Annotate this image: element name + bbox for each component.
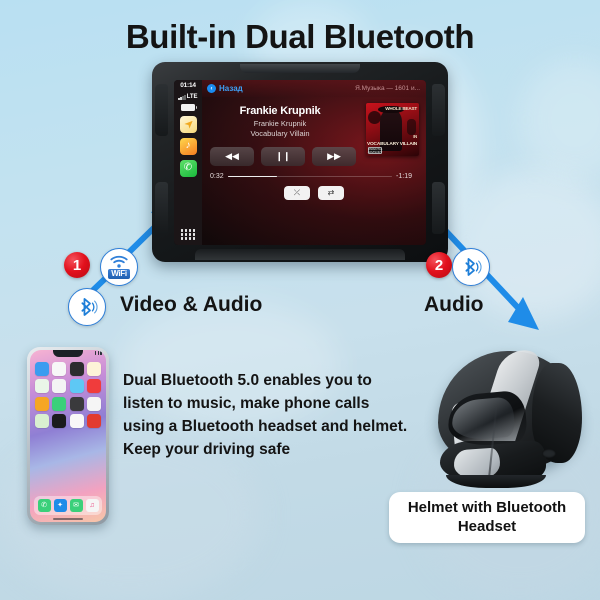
- wifi-waves-glyph: [109, 255, 129, 268]
- bluetooth-glyph: [76, 295, 98, 319]
- smartphone-app-grid: [35, 362, 101, 428]
- maps-app-icon[interactable]: [180, 116, 197, 133]
- wifi-icon: WiFi: [100, 248, 138, 286]
- secondary-controls: ⤫ ⇄: [284, 186, 344, 200]
- carplay-screen: 01:14 LTE ♪ ✆ ‹ Назад: [174, 80, 426, 245]
- parental-advisory-label: PARENTAL ADVISORY: [368, 147, 382, 154]
- back-button[interactable]: ‹ Назад: [207, 84, 243, 93]
- battery-full-icon: [181, 104, 195, 111]
- phone-app-icon[interactable]: [35, 414, 49, 428]
- rewind-button[interactable]: ◀◀: [210, 147, 254, 166]
- case-bottom-bar: [195, 249, 405, 260]
- music-dock-icon[interactable]: ♫: [86, 499, 99, 512]
- wifi-label: WiFi: [108, 269, 130, 280]
- smartphone-dock: ✆✦✉♫: [34, 496, 102, 515]
- phone-app-icon[interactable]: [87, 362, 101, 376]
- carplay-topbar: ‹ Назад Я.Музыка — 1601 и...: [202, 80, 426, 97]
- callout-1-label: Video & Audio: [120, 293, 262, 317]
- phone-app-icon[interactable]: [35, 362, 49, 376]
- bluetooth-icon: [68, 288, 106, 326]
- smartphone-screen: ✆✦✉♫: [30, 350, 106, 522]
- bluetooth-glyph: [460, 255, 482, 279]
- back-label: Назад: [219, 84, 243, 93]
- track-album: Vocabulary Villain: [202, 129, 358, 138]
- elapsed-time: 0:32: [210, 173, 224, 180]
- now-playing-body: WHOLE BEAST IN VOCABULARY VILLAIN PARENT…: [202, 97, 426, 245]
- phone-app-icon[interactable]: [70, 379, 84, 393]
- callout-2-label: Audio: [424, 293, 483, 317]
- phone-app-icon[interactable]: [87, 397, 101, 411]
- bluetooth-icon: [452, 248, 490, 286]
- shuffle-button[interactable]: ⤫: [284, 186, 310, 200]
- fast-forward-button[interactable]: ▶▶: [312, 147, 356, 166]
- music-app-icon[interactable]: ♪: [180, 138, 197, 155]
- messages-dock-icon[interactable]: ✉: [70, 499, 83, 512]
- page-title: Built-in Dual Bluetooth: [0, 18, 600, 56]
- track-metadata: Frankie Krupnik Frankie Krupnik Vocabula…: [202, 105, 358, 138]
- smartphone-notch: [53, 350, 83, 357]
- safari-dock-icon[interactable]: ✦: [54, 499, 67, 512]
- tablet-device: 01:14 LTE ♪ ✆ ‹ Назад: [152, 62, 448, 262]
- phone-dock-icon[interactable]: ✆: [38, 499, 51, 512]
- phone-app-icon[interactable]: [35, 397, 49, 411]
- status-network: LTE: [178, 93, 197, 100]
- remaining-time: -1:19: [396, 173, 412, 180]
- track-artist: Frankie Krupnik: [202, 119, 358, 128]
- album-art: WHOLE BEAST IN VOCABULARY VILLAIN PARENT…: [366, 103, 419, 156]
- source-label: Я.Музыка — 1601 и...: [355, 85, 420, 92]
- phone-app-icon[interactable]: [70, 414, 84, 428]
- case-mount-tab: [155, 84, 168, 136]
- album-art-text-mid: IN: [413, 134, 417, 139]
- phone-app-icon[interactable]: [70, 397, 84, 411]
- phone-app-icon[interactable]: [87, 379, 101, 393]
- album-art-shape: [407, 119, 416, 135]
- phone-app-icon[interactable]: [70, 362, 84, 376]
- helmet-image: [432, 345, 584, 493]
- signal-bars-icon: [178, 95, 185, 100]
- description-text: Dual Bluetooth 5.0 enables you to listen…: [123, 370, 413, 462]
- progress-track[interactable]: [228, 176, 392, 178]
- phone-app-icon[interactable]: [52, 379, 66, 393]
- home-indicator: [53, 518, 83, 520]
- smartphone-status-bar: [95, 351, 102, 355]
- album-art-text-top: WHOLE BEAST: [385, 106, 417, 111]
- case-top-notch: [240, 64, 360, 73]
- phone-app-icon[interactable]: [52, 397, 66, 411]
- phone-app-icon[interactable]: [87, 414, 101, 428]
- case-mount-tab: [432, 84, 445, 136]
- case-mount-tab: [432, 182, 445, 234]
- helmet-base: [446, 475, 546, 488]
- callout-badge-1: 1: [64, 252, 90, 278]
- helmet-caption: Helmet with Bluetooth Headset: [389, 492, 585, 543]
- repeat-button[interactable]: ⇄: [318, 186, 344, 200]
- case-mount-tab: [155, 182, 168, 234]
- status-time: 01:14: [180, 83, 196, 90]
- smartphone: ✆✦✉♫: [27, 347, 109, 525]
- helmet-vent: [542, 449, 556, 458]
- navigation-arrow-glyph: [183, 119, 194, 130]
- progress-bar[interactable]: 0:32 -1:19: [210, 173, 412, 180]
- callout-badge-2: 2: [426, 252, 452, 278]
- phone-app-icon[interactable]: [52, 362, 66, 376]
- phone-app-icon[interactable]: ✆: [180, 160, 197, 177]
- pause-button[interactable]: ❙❙: [261, 147, 305, 166]
- carplay-now-playing: ‹ Назад Я.Музыка — 1601 и... WHOLE BEAST…: [202, 80, 426, 245]
- track-title: Frankie Krupnik: [202, 105, 358, 117]
- app-grid-icon[interactable]: [181, 229, 196, 240]
- network-label: LTE: [187, 94, 198, 100]
- background-blur-shape: [520, 60, 600, 180]
- carplay-sidebar: 01:14 LTE ♪ ✆: [174, 80, 202, 245]
- playback-controls: ◀◀ ❙❙ ▶▶: [210, 147, 356, 166]
- chevron-left-circle-icon: ‹: [207, 84, 216, 93]
- phone-app-icon[interactable]: [35, 379, 49, 393]
- phone-app-icon[interactable]: [52, 414, 66, 428]
